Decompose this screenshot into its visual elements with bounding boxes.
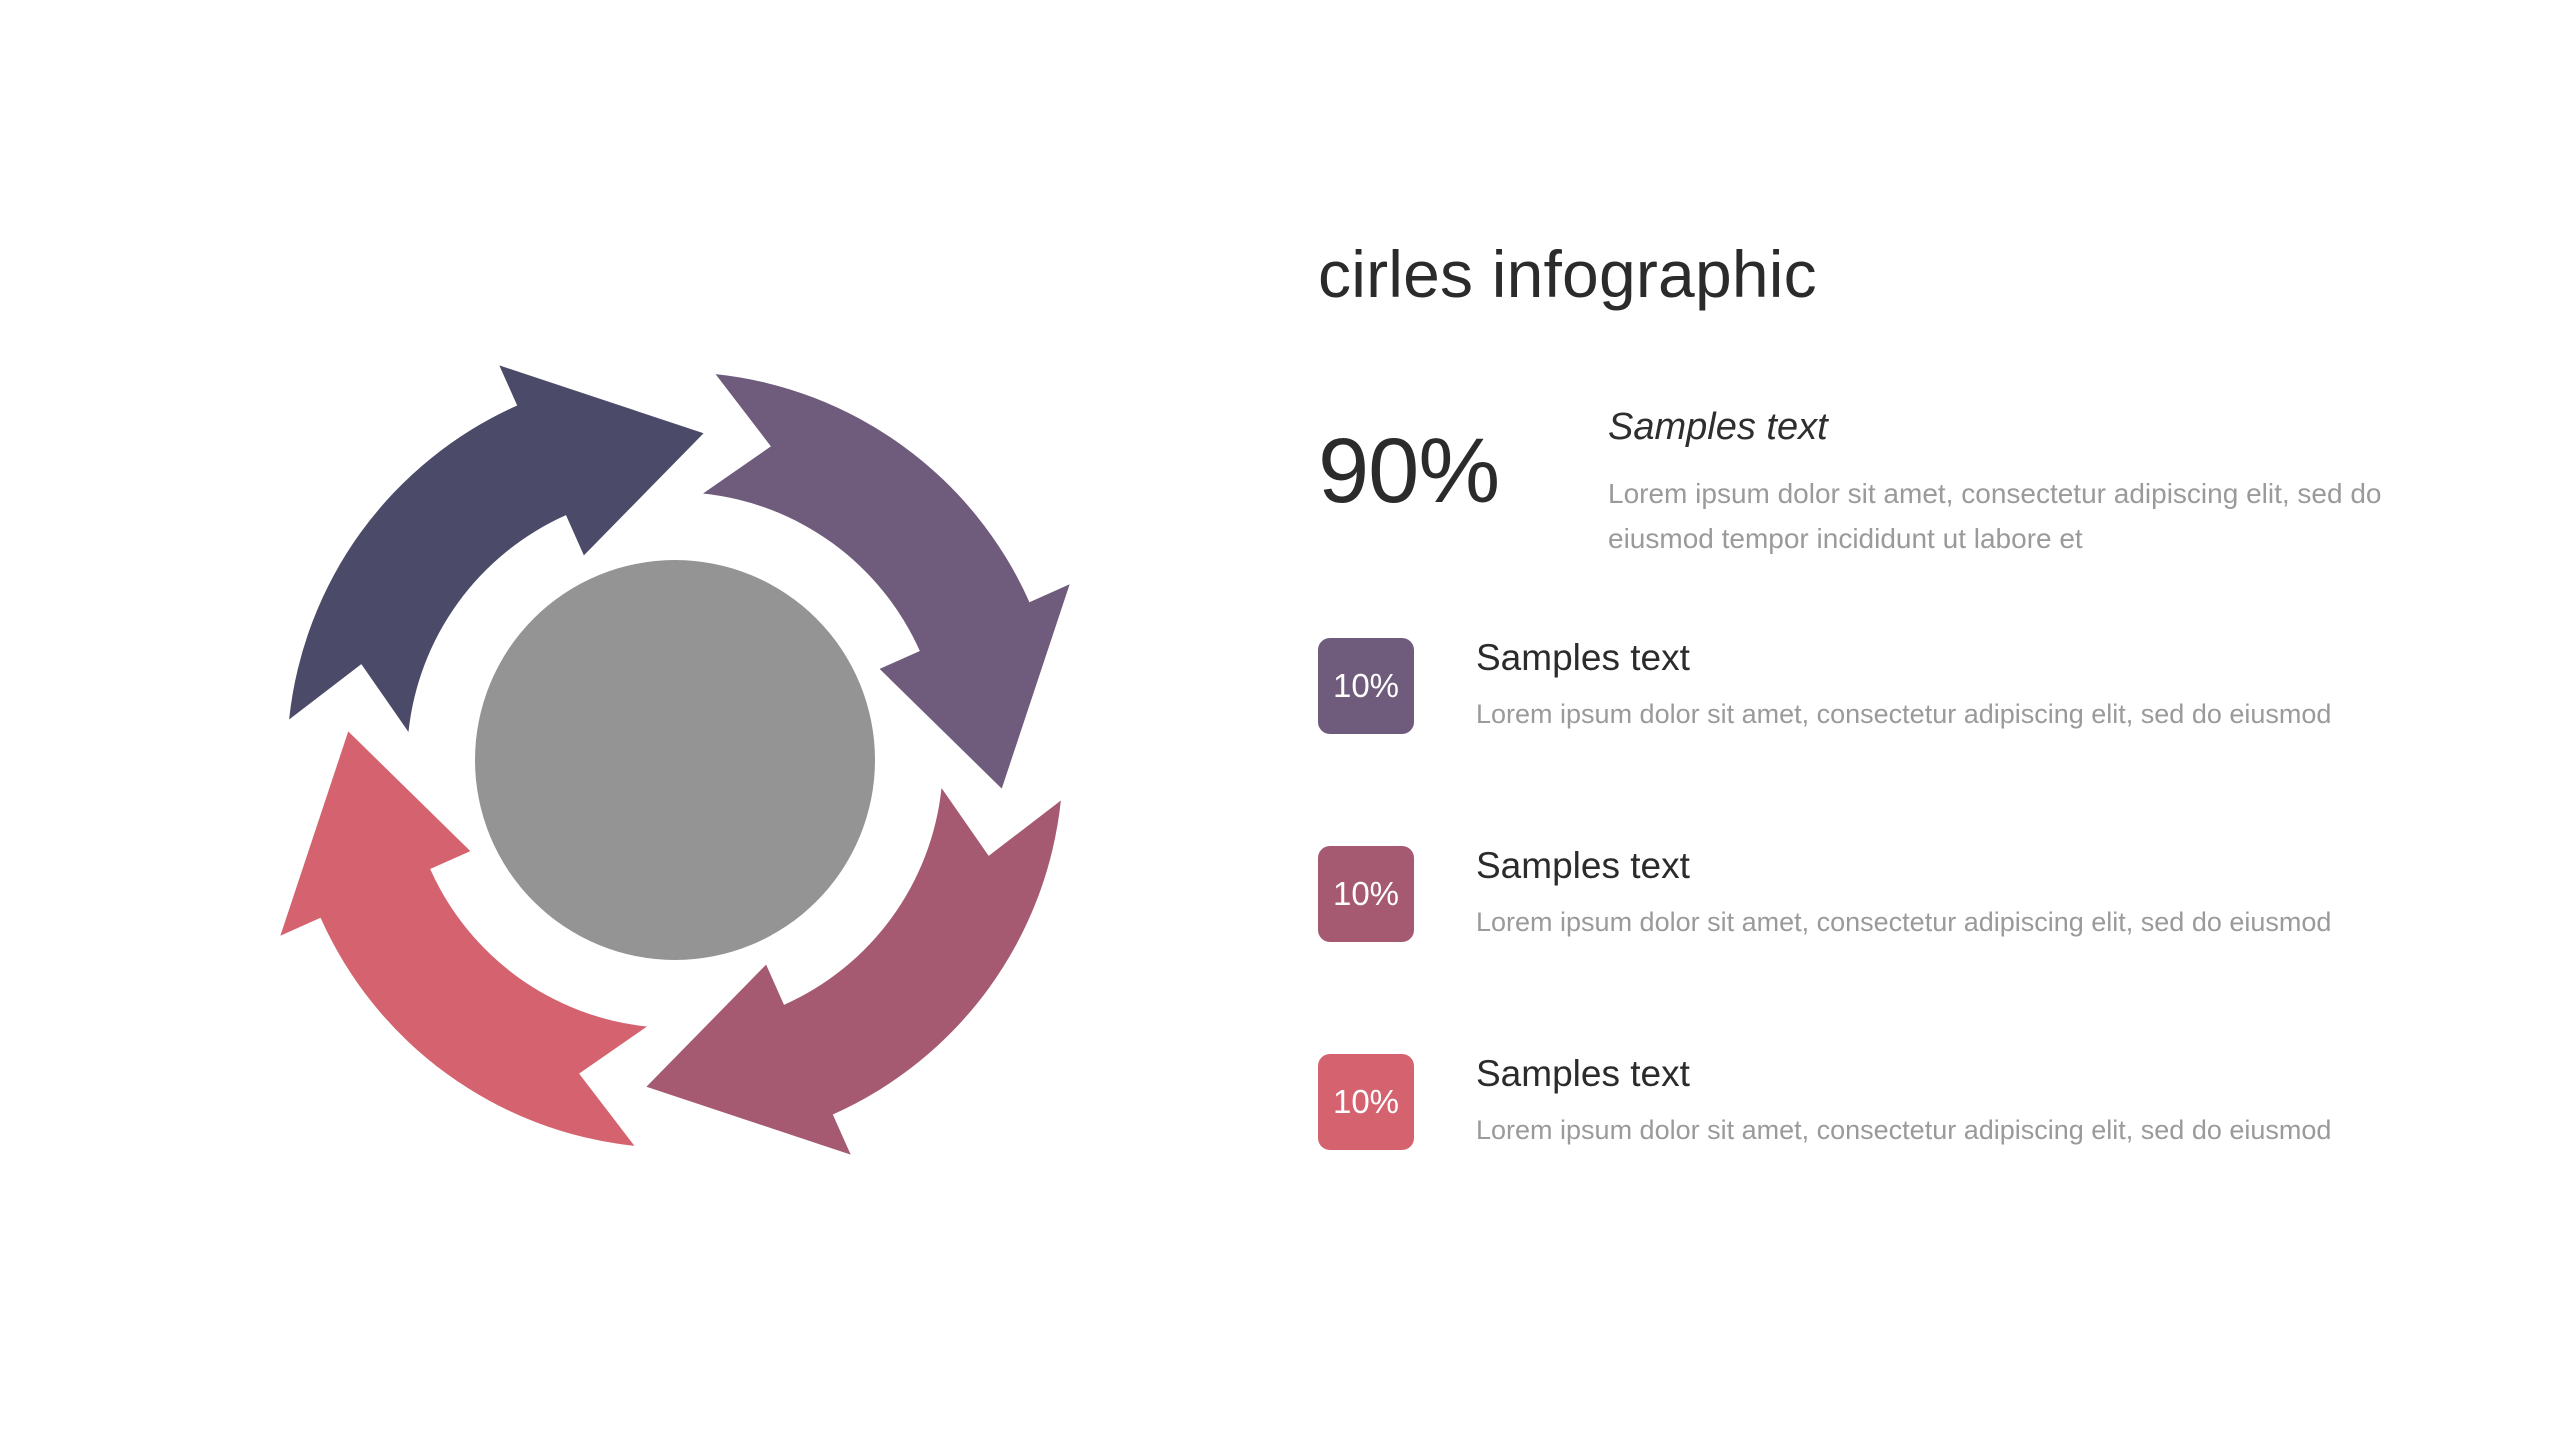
stat-text-group-1: Samples text Lorem ipsum dolor sit amet,… <box>1476 634 2331 734</box>
center-hub-circle <box>475 560 875 960</box>
circular-arrow-diagram <box>170 255 1180 1265</box>
stat-description-1: Lorem ipsum dolor sit amet, consectetur … <box>1476 696 2331 734</box>
featured-description: Lorem ipsum dolor sit amet, consectetur … <box>1608 471 2408 562</box>
featured-percentage: 90% <box>1318 401 1608 517</box>
stat-row[interactable]: 10% Samples text Lorem ipsum dolor sit a… <box>1318 842 2438 942</box>
stat-heading-3: Samples text <box>1476 1052 2331 1096</box>
stat-description-3: Lorem ipsum dolor sit amet, consectetur … <box>1476 1112 2331 1150</box>
stat-badge-2: 10% <box>1318 846 1414 942</box>
featured-stat-block: 90% Samples text Lorem ipsum dolor sit a… <box>1318 401 2438 561</box>
stat-list: 10% Samples text Lorem ipsum dolor sit a… <box>1318 634 2438 1151</box>
stat-heading-1: Samples text <box>1476 636 2331 680</box>
slide-canvas: cirles infographic 90% Samples text Lore… <box>0 0 2560 1440</box>
cycle-diagram-svg <box>170 255 1180 1265</box>
page-title: cirles infographic <box>1318 240 2438 309</box>
stat-row[interactable]: 10% Samples text Lorem ipsum dolor sit a… <box>1318 634 2438 734</box>
content-panel: cirles infographic 90% Samples text Lore… <box>1318 240 2438 1150</box>
stat-row[interactable]: 10% Samples text Lorem ipsum dolor sit a… <box>1318 1050 2438 1150</box>
featured-text-group: Samples text Lorem ipsum dolor sit amet,… <box>1608 401 2438 561</box>
stat-badge-1: 10% <box>1318 638 1414 734</box>
stat-text-group-2: Samples text Lorem ipsum dolor sit amet,… <box>1476 842 2331 942</box>
featured-heading: Samples text <box>1608 405 2438 451</box>
stat-description-2: Lorem ipsum dolor sit amet, consectetur … <box>1476 904 2331 942</box>
stat-heading-2: Samples text <box>1476 844 2331 888</box>
stat-text-group-3: Samples text Lorem ipsum dolor sit amet,… <box>1476 1050 2331 1150</box>
stat-badge-3: 10% <box>1318 1054 1414 1150</box>
